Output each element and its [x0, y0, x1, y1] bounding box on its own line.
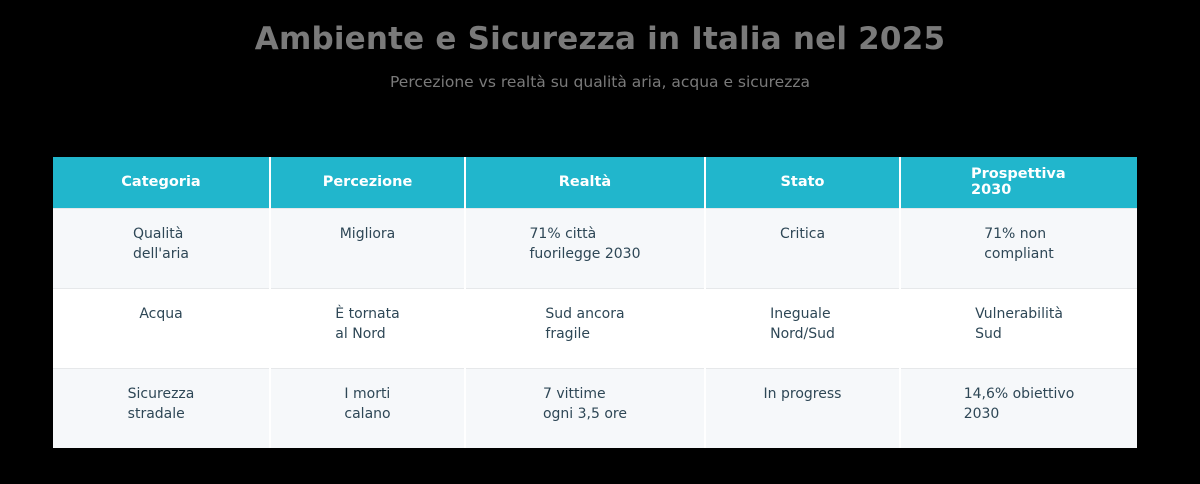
cell-text: Critica [780, 209, 825, 244]
cell-text: Sud ancora fragile [545, 289, 624, 345]
cell-text: Ineguale Nord/Sud [770, 289, 835, 345]
cell-stato: Critica [705, 208, 900, 288]
column-header-percezione[interactable]: Percezione [270, 157, 465, 208]
page-root: Ambiente e Sicurezza in Italia nel 2025 … [0, 0, 1200, 484]
cell-stato: Ineguale Nord/Sud [705, 288, 900, 368]
cell-text: 71% non compliant [984, 209, 1054, 265]
cell-prospettiva-2030: Vulnerabilità Sud [900, 288, 1137, 368]
cell-categoria: Qualità dell'aria [53, 208, 270, 288]
cell-text: In progress [764, 369, 842, 404]
table-container: Categoria Percezione Realtà Stato Prospe… [53, 157, 1137, 446]
page-title: Ambiente e Sicurezza in Italia nel 2025 [0, 22, 1200, 56]
page-subtitle: Percezione vs realtà su qualità aria, ac… [0, 74, 1200, 91]
column-header-categoria[interactable]: Categoria [53, 157, 270, 208]
cell-text: I morti calano [344, 369, 390, 425]
cell-text: 14,6% obiettivo 2030 [964, 369, 1075, 425]
cell-realta: 7 vittime ogni 3,5 ore [465, 368, 705, 448]
cell-prospettiva-2030: 14,6% obiettivo 2030 [900, 368, 1137, 448]
comparison-table: Categoria Percezione Realtà Stato Prospe… [53, 157, 1137, 448]
title-block: Ambiente e Sicurezza in Italia nel 2025 … [0, 22, 1200, 91]
cell-text: Migliora [340, 209, 396, 244]
cell-categoria: Sicurezza stradale [53, 368, 270, 448]
table-row: Qualità dell'aria Migliora 71% città fuo… [53, 208, 1137, 288]
column-header-realta[interactable]: Realtà [465, 157, 705, 208]
cell-text: 71% città fuorilegge 2030 [530, 209, 641, 265]
cell-realta: Sud ancora fragile [465, 288, 705, 368]
cell-text: 7 vittime ogni 3,5 ore [543, 369, 627, 425]
cell-text: Sicurezza stradale [128, 369, 195, 425]
table-body: Qualità dell'aria Migliora 71% città fuo… [53, 208, 1137, 448]
cell-realta: 71% città fuorilegge 2030 [465, 208, 705, 288]
table-header-row: Categoria Percezione Realtà Stato Prospe… [53, 157, 1137, 208]
table-row: Sicurezza stradale I morti calano 7 vitt… [53, 368, 1137, 448]
cell-percezione: È tornata al Nord [270, 288, 465, 368]
cell-text: Acqua [139, 289, 182, 324]
cell-stato: In progress [705, 368, 900, 448]
column-header-stato[interactable]: Stato [705, 157, 900, 208]
cell-prospettiva-2030: 71% non compliant [900, 208, 1137, 288]
column-header-prospettiva-2030[interactable]: Prospettiva 2030 [900, 157, 1137, 208]
cell-text: Qualità dell'aria [133, 209, 189, 265]
table-row: Acqua È tornata al Nord Sud ancora fragi… [53, 288, 1137, 368]
cell-categoria: Acqua [53, 288, 270, 368]
cell-percezione: I morti calano [270, 368, 465, 448]
cell-percezione: Migliora [270, 208, 465, 288]
table-header: Categoria Percezione Realtà Stato Prospe… [53, 157, 1137, 208]
cell-text: Vulnerabilità Sud [975, 289, 1063, 345]
cell-text: È tornata al Nord [335, 289, 399, 345]
